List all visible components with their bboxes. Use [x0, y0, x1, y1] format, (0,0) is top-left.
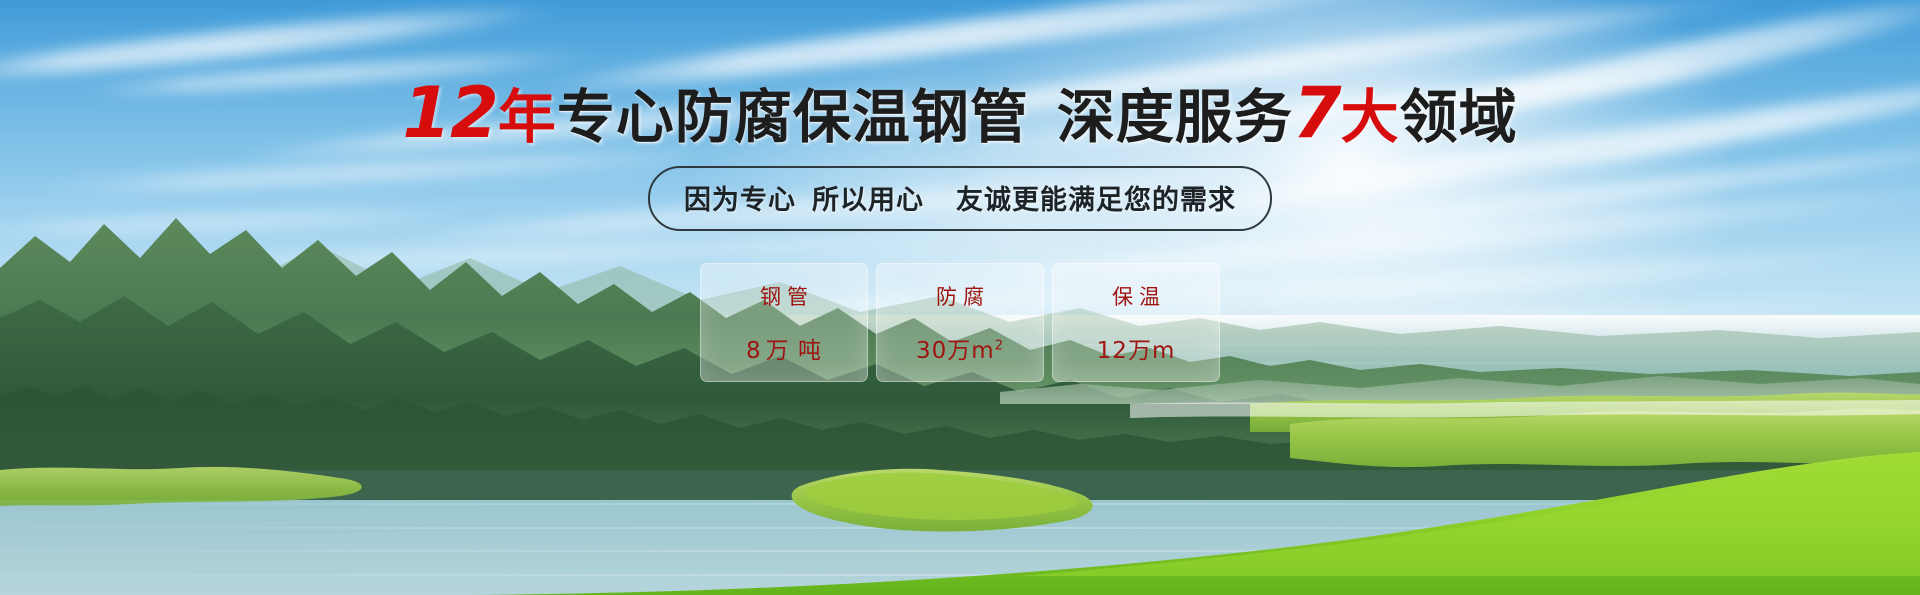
stat-card-title: 保温 — [1106, 281, 1166, 311]
stat-value-superscript: 2 — [995, 338, 1004, 353]
stat-card-insulation: 保温 12万m — [1052, 263, 1220, 382]
headline-main-text: 专心防腐保温钢管 — [557, 83, 1029, 151]
stat-card-value: 8万 吨 — [746, 331, 822, 365]
stat-card-anticorrosion: 防腐 30万m2 — [876, 263, 1044, 382]
headline-fields-big: 大 — [1341, 83, 1400, 151]
promo-banner: 12年专心防腐保温钢管深度服务7大领域 因为专心所以用心友诚更能满足您的需求 钢… — [0, 0, 1920, 595]
stat-card-value: 12万m — [1097, 331, 1176, 365]
stat-cards: 钢管 8万 吨 防腐 30万m2 保温 12万m — [700, 263, 1220, 382]
headline-fields-tail: 领域 — [1400, 83, 1518, 151]
headline-years-unit: 年 — [498, 83, 557, 151]
subtitle-part-2: 所以用心 — [812, 185, 924, 216]
stat-card-title: 钢管 — [754, 281, 814, 311]
headline-years-number: 12 — [402, 72, 497, 154]
stat-value-unit: 万m — [947, 338, 994, 364]
stat-value-unit: 万 吨 — [766, 338, 822, 364]
headline-service-text: 深度服务 — [1057, 83, 1293, 151]
banner-content: 12年专心防腐保温钢管深度服务7大领域 因为专心所以用心友诚更能满足您的需求 钢… — [0, 0, 1920, 595]
stat-card-title: 防腐 — [930, 281, 990, 311]
subtitle-pill: 因为专心所以用心友诚更能满足您的需求 — [648, 166, 1272, 231]
subtitle-part-3: 友诚更能满足您的需求 — [956, 185, 1236, 216]
stat-card-steel-pipe: 钢管 8万 吨 — [700, 263, 868, 382]
stat-value-unit: 万m — [1128, 338, 1175, 364]
stat-value-number: 30 — [916, 338, 947, 364]
stat-card-value: 30万m2 — [916, 331, 1004, 365]
headline: 12年专心防腐保温钢管深度服务7大领域 — [0, 78, 1920, 148]
stat-value-number: 8 — [746, 338, 762, 364]
subtitle-part-1: 因为专心 — [684, 185, 796, 216]
headline-fields-number: 7 — [1293, 72, 1341, 154]
subtitle-wrapper: 因为专心所以用心友诚更能满足您的需求 — [0, 166, 1920, 231]
stat-value-number: 12 — [1097, 338, 1128, 364]
